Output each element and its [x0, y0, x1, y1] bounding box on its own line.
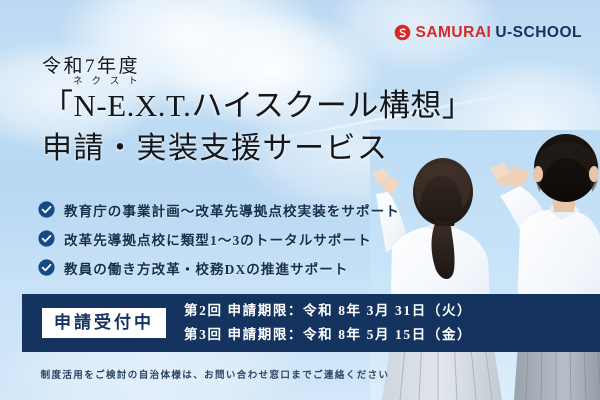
- feature-list: 教育庁の事業計画〜改革先導拠点校実装をサポート 改革先導拠点校に類型1〜3のトー…: [38, 195, 400, 282]
- students-pointing-photo: [370, 130, 600, 400]
- footer-note: 制度活用をご検討の自治体様は、お問い合わせ窓口までご連絡ください: [0, 367, 430, 381]
- logo-uschool-text: U-SCHOOL: [495, 25, 582, 41]
- deadline-list: 第2回 申請期限：令和 8年 3月 31日（火） 第3回 申請期限：令和 8年 …: [184, 299, 472, 347]
- page-title-line-1: ネクスト 「N-E.X.T.ハイスクール構想」: [42, 89, 473, 123]
- list-item: 教員の働き方改革・校務DXの推進サポート: [38, 253, 400, 282]
- samurai-swirl-icon: [394, 24, 411, 41]
- check-circle-icon: [38, 230, 55, 247]
- feature-text: 教員の働き方改革・校務DXの推進サポート: [64, 258, 349, 278]
- headline-block: 令和7年度 ネクスト 「N-E.X.T.ハイスクール構想」 申請・実装支援サービ…: [42, 56, 473, 165]
- deadline-row: 第3回 申請期限：令和 8年 5月 15日（金）: [184, 323, 472, 347]
- era-label: 令和7年度: [42, 56, 473, 78]
- feature-text: 教育庁の事業計画〜改革先導拠点校実装をサポート: [64, 200, 400, 220]
- check-circle-icon: [38, 259, 55, 276]
- check-circle-icon: [38, 201, 55, 218]
- logo-samurai-text: SAMURAI: [415, 25, 491, 41]
- page-title-line-1-text: 「N-E.X.T.ハイスクール構想」: [42, 88, 473, 123]
- list-item: 改革先導拠点校に類型1〜3のトータルサポート: [38, 224, 400, 253]
- samurai-u-school-logo: SAMURAI U-SCHOOL: [394, 24, 582, 41]
- deadline-bar: 申請受付中 第2回 申請期限：令和 8年 3月 31日（火） 第3回 申請期限：…: [22, 294, 600, 352]
- list-item: 教育庁の事業計画〜改革先導拠点校実装をサポート: [38, 195, 400, 224]
- page-title-line-2: 申請・実装支援サービス: [42, 132, 473, 165]
- promotional-banner: SAMURAI U-SCHOOL 令和7年度 ネクスト 「N-E.X.T.ハイス…: [0, 0, 600, 400]
- feature-text: 改革先導拠点校に類型1〜3のトータルサポート: [64, 229, 372, 249]
- status-badge: 申請受付中: [42, 308, 166, 338]
- furigana-ruby: ネクスト: [73, 77, 147, 87]
- deadline-row: 第2回 申請期限：令和 8年 3月 31日（火）: [184, 299, 472, 323]
